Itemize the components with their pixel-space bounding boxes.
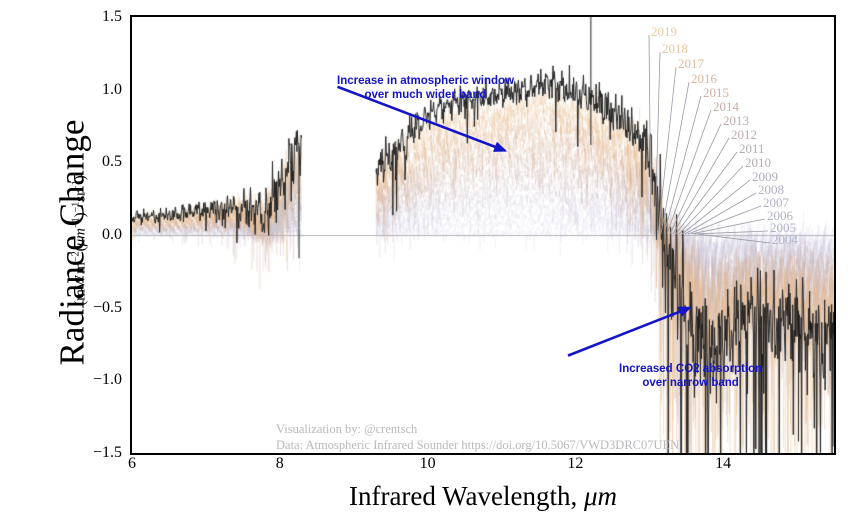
x-axis-title: Infrared Wavelength, μm xyxy=(130,481,836,512)
credit-visualization: Visualization by: @crentsch xyxy=(276,421,417,438)
y-tick-label: 1.0 xyxy=(78,81,122,99)
annotation-co2-text: Increased CO2 absorption over narrow ban… xyxy=(619,362,762,391)
year-label: 2004 xyxy=(772,232,798,248)
x-tick-label: 6 xyxy=(112,455,152,473)
credit-data-source: Data: Atmospheric Infrared Sounder https… xyxy=(276,437,679,454)
x-tick-label: 14 xyxy=(703,455,743,473)
year-label: 2019 xyxy=(651,24,677,40)
y-tick-label: 0.5 xyxy=(78,153,122,171)
x-tick-label: 12 xyxy=(555,455,595,473)
chart-figure: Radiance Change (mW m−2(μm−1)−1sr−1) 1.5… xyxy=(0,0,855,531)
year-label: 2018 xyxy=(662,41,688,57)
y-tick-label: 0.0 xyxy=(78,226,122,244)
y-tick-label: 1.5 xyxy=(78,8,122,26)
x-tick-label: 8 xyxy=(260,455,300,473)
year-label: 2017 xyxy=(678,56,704,72)
annotation-window-text: Increase in atmospheric window over much… xyxy=(337,74,514,103)
y-axis-ticks: 1.51.00.50.0−0.5−1.0−1.5 xyxy=(74,0,122,531)
x-tick-label: 10 xyxy=(408,455,448,473)
y-tick-label: −0.5 xyxy=(78,299,122,317)
y-tick-label: −1.0 xyxy=(78,371,122,389)
plot-area: 2019201820172016201520142013201220112010… xyxy=(130,15,836,455)
